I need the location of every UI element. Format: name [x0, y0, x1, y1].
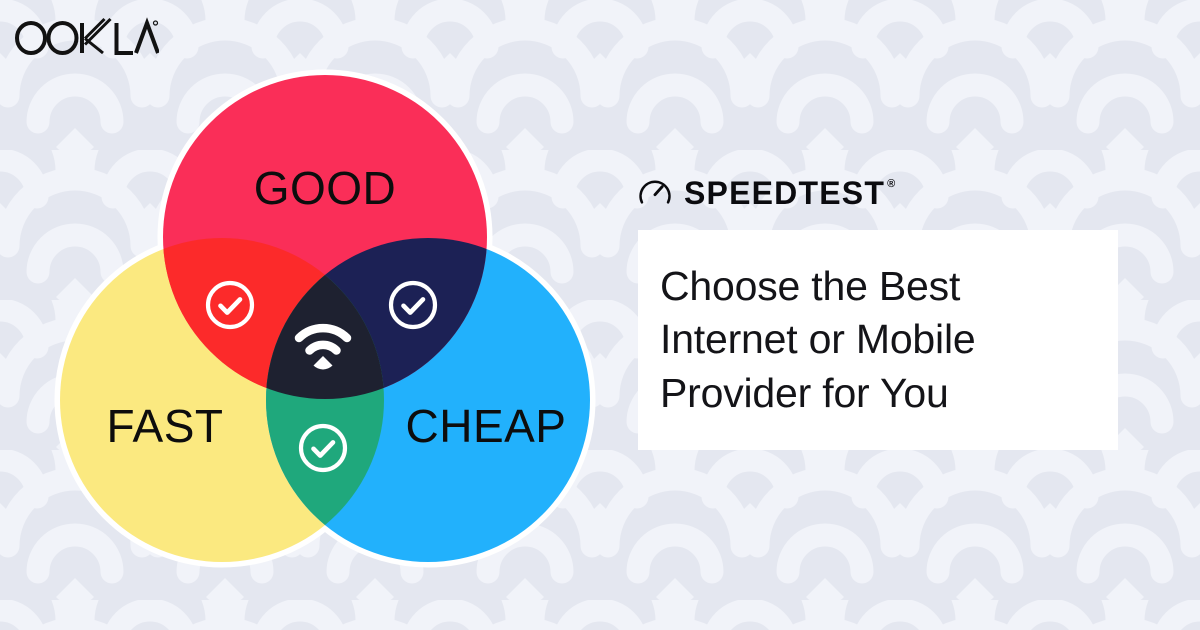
registered-mark: ®: [887, 179, 896, 190]
speedometer-gauge-icon: [638, 176, 672, 210]
venn-label-good: GOOD: [254, 162, 397, 214]
headline-line-3: Provider for You: [660, 367, 1092, 420]
venn-label-fast: FAST: [106, 400, 223, 452]
speedtest-logo[interactable]: SPEEDTEST ®: [638, 172, 1128, 214]
headline-line-1: Choose the Best: [660, 260, 1092, 313]
speedtest-wordmark-text: SPEEDTEST: [684, 177, 885, 209]
speedtest-wordmark: SPEEDTEST ®: [684, 177, 896, 209]
ookla-logo[interactable]: [14, 16, 159, 58]
headline-box: Choose the Best Internet or Mobile Provi…: [638, 230, 1118, 450]
promo-card: GOOD FAST CHEAP: [0, 0, 1200, 630]
venn-label-cheap: CHEAP: [406, 400, 567, 452]
venn-diagram: GOOD FAST CHEAP: [40, 55, 610, 575]
headline-line-2: Internet or Mobile: [660, 313, 1092, 366]
right-content-panel: SPEEDTEST ® Choose the Best Internet or …: [638, 172, 1128, 450]
